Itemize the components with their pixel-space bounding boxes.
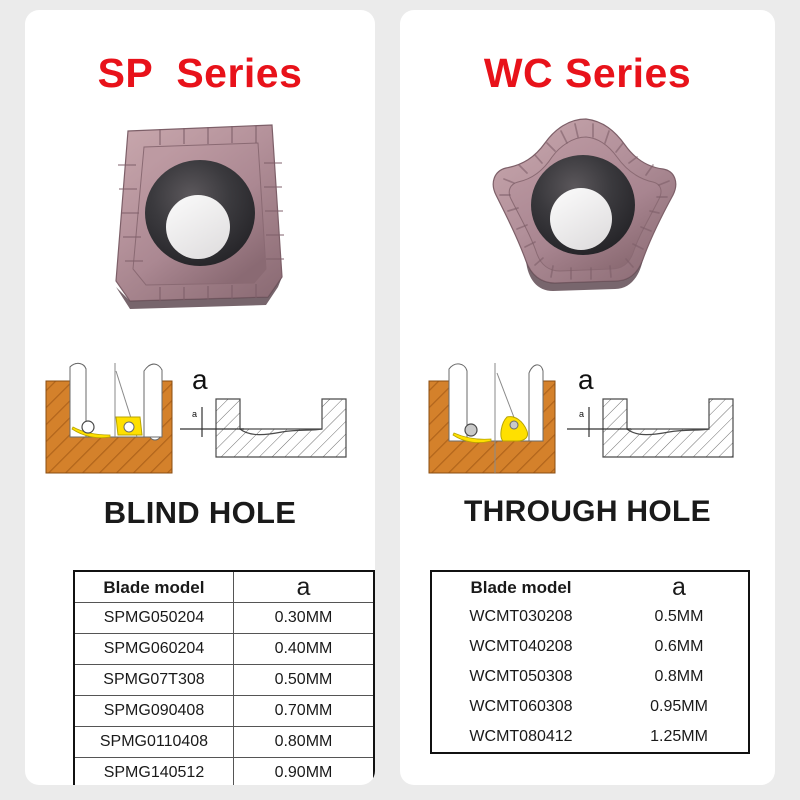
table-body-wc: Blade model a WCMT030208 0.5MM WCMT04020… [431,571,749,753]
trigon-turning-insert-photo [483,105,693,305]
dimension-label-a-small: a [192,409,197,419]
table-row: WCMT040208 0.6MM [431,632,749,662]
insert-photo-trigon [400,105,775,335]
series-title-sp: SP Series [25,50,375,97]
cell-a-value: 0.5MM [610,602,749,632]
table-row: WCMT030208 0.5MM [431,602,749,632]
dimension-label-a-large: a [192,364,208,395]
blade-model-table-sp: Blade model a SPMG050204 0.30MM SPMG0602… [73,570,375,785]
table-body-sp: Blade model a SPMG050204 0.30MM SPMG0602… [74,571,374,785]
cell-a-value: 0.80MM [233,727,374,758]
series-title-wc: WC Series [400,50,775,97]
table-wrap-sp: Blade model a SPMG050204 0.30MM SPMG0602… [73,570,375,785]
table-wrap-wc: Blade model a WCMT030208 0.5MM WCMT04020… [430,570,750,754]
blind-hole-section [46,363,172,473]
through-hole-section [429,363,555,473]
blind-hole-drilling-diagram: a a [40,345,360,485]
insert-photo-square [25,105,375,335]
table-row: SPMG050204 0.30MM [74,603,374,634]
column-header-a: a [610,571,749,602]
hole-cross-section: a a [567,364,733,457]
cell-blade-model: WCMT030208 [431,602,610,632]
cell-a-value: 0.90MM [233,758,374,786]
center-insert-screw-hole [82,421,94,433]
cell-a-value: 1.25MM [610,722,749,753]
table-header-row: Blade model a [74,571,374,603]
dimension-label-a-small: a [579,409,584,419]
table-row: WCMT050308 0.8MM [431,662,749,692]
insert-through-hole [550,188,612,250]
cell-blade-model: WCMT060308 [431,692,610,722]
diagram-through-hole: a a [400,345,775,490]
column-header-a: a [233,571,374,603]
panel-sp-series: SP Series [25,10,375,785]
cell-blade-model: WCMT080412 [431,722,610,753]
cell-a-value: 0.95MM [610,692,749,722]
section-material [216,399,346,457]
hole-type-label-blind: BLIND HOLE [25,495,375,531]
cell-blade-model: SPMG060204 [74,634,233,665]
diagram-blind-hole: a a [25,345,375,490]
table-row: SPMG07T308 0.50MM [74,665,374,696]
cell-blade-model: SPMG0110408 [74,727,233,758]
cell-blade-model: WCMT040208 [431,632,610,662]
insert-screw-hole [124,422,134,432]
blade-model-table-wc: Blade model a WCMT030208 0.5MM WCMT04020… [430,570,750,754]
insert-through-hole [166,195,230,259]
drill-body [449,364,543,441]
cell-blade-model: WCMT050308 [431,662,610,692]
cell-blade-model: SPMG07T308 [74,665,233,696]
table-row: WCMT060308 0.95MM [431,692,749,722]
cell-a-value: 0.70MM [233,696,374,727]
cell-a-value: 0.40MM [233,634,374,665]
cell-a-value: 0.50MM [233,665,374,696]
cell-a-value: 0.6MM [610,632,749,662]
insert-screw-hole [510,421,518,429]
hole-type-label-through: THROUGH HOLE [400,495,775,529]
square-turning-insert-photo [100,105,300,320]
column-header-blade-model: Blade model [74,571,233,603]
cell-a-value: 0.30MM [233,603,374,634]
column-header-blade-model: Blade model [431,571,610,602]
panel-wc-series: WC Series [400,10,775,785]
table-row: SPMG0110408 0.80MM [74,727,374,758]
cell-blade-model: SPMG050204 [74,603,233,634]
table-row: SPMG060204 0.40MM [74,634,374,665]
cell-a-value: 0.8MM [610,662,749,692]
dimension-label-a-large: a [578,364,594,395]
table-row: WCMT080412 1.25MM [431,722,749,753]
center-insert-screw-hole [465,424,477,436]
cell-blade-model: SPMG140512 [74,758,233,786]
section-material [603,399,733,457]
cell-blade-model: SPMG090408 [74,696,233,727]
table-row: SPMG140512 0.90MM [74,758,374,786]
comparison-sheet: SP Series [0,0,800,800]
through-hole-drilling-diagram: a a [423,345,753,485]
table-header-row: Blade model a [431,571,749,602]
table-row: SPMG090408 0.70MM [74,696,374,727]
hole-cross-section: a a [180,364,346,457]
